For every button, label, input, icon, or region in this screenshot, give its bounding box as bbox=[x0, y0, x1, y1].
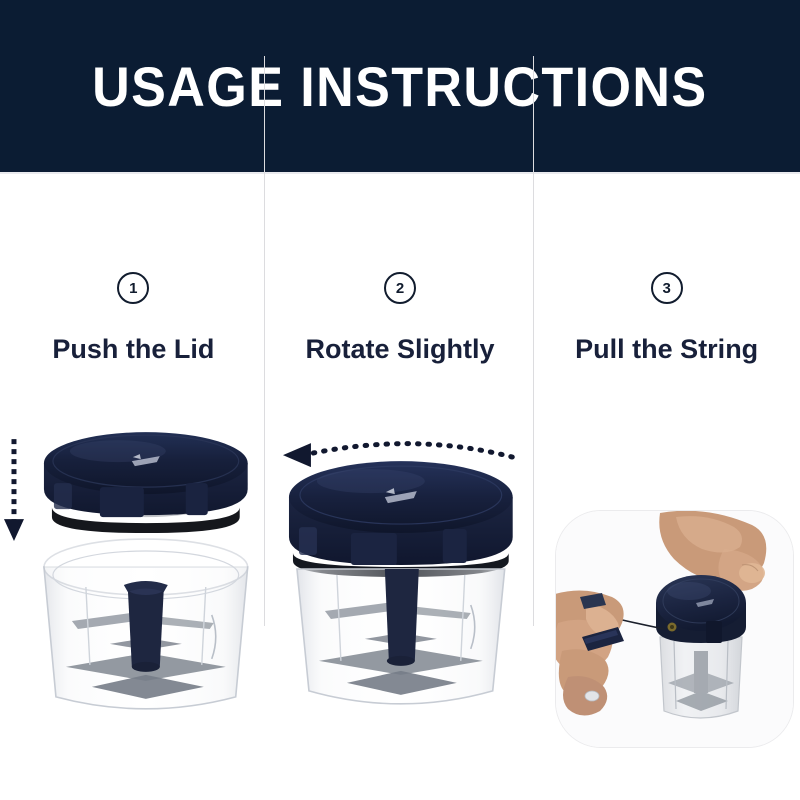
steps-container: 1 Push the Lid bbox=[0, 174, 800, 800]
step-1-number-badge: 1 bbox=[117, 272, 149, 304]
step-1-column: 1 Push the Lid bbox=[0, 174, 267, 800]
step-3-column: 3 Pull the String bbox=[533, 174, 800, 800]
chopper-bowl bbox=[44, 539, 248, 709]
step-3-photo bbox=[555, 510, 794, 748]
chopper-bowl bbox=[297, 569, 505, 704]
step-1-illustration bbox=[0, 429, 267, 729]
chopper-jar bbox=[660, 637, 742, 718]
usage-instructions-page: USAGE INSTRUCTIONS 1 Push the Lid bbox=[0, 0, 800, 800]
step-3-number-badge: 3 bbox=[651, 272, 683, 304]
column-divider-2 bbox=[533, 56, 534, 626]
chopper-lid bbox=[656, 575, 746, 643]
column-divider-1 bbox=[264, 56, 265, 626]
step-2-number-badge: 2 bbox=[384, 272, 416, 304]
chopper-lid bbox=[289, 461, 513, 577]
step-2-illustration bbox=[267, 429, 534, 729]
down-arrow-icon bbox=[4, 439, 24, 541]
step-3-title: Pull the String bbox=[533, 334, 800, 365]
page-title: USAGE INSTRUCTIONS bbox=[92, 54, 707, 119]
step-1-title: Push the Lid bbox=[0, 334, 267, 365]
step-2-title: Rotate Slightly bbox=[267, 334, 534, 365]
page-header: USAGE INSTRUCTIONS bbox=[0, 0, 800, 172]
chopper-lid bbox=[44, 432, 248, 533]
step-2-column: 2 Rotate Slightly bbox=[267, 174, 534, 800]
